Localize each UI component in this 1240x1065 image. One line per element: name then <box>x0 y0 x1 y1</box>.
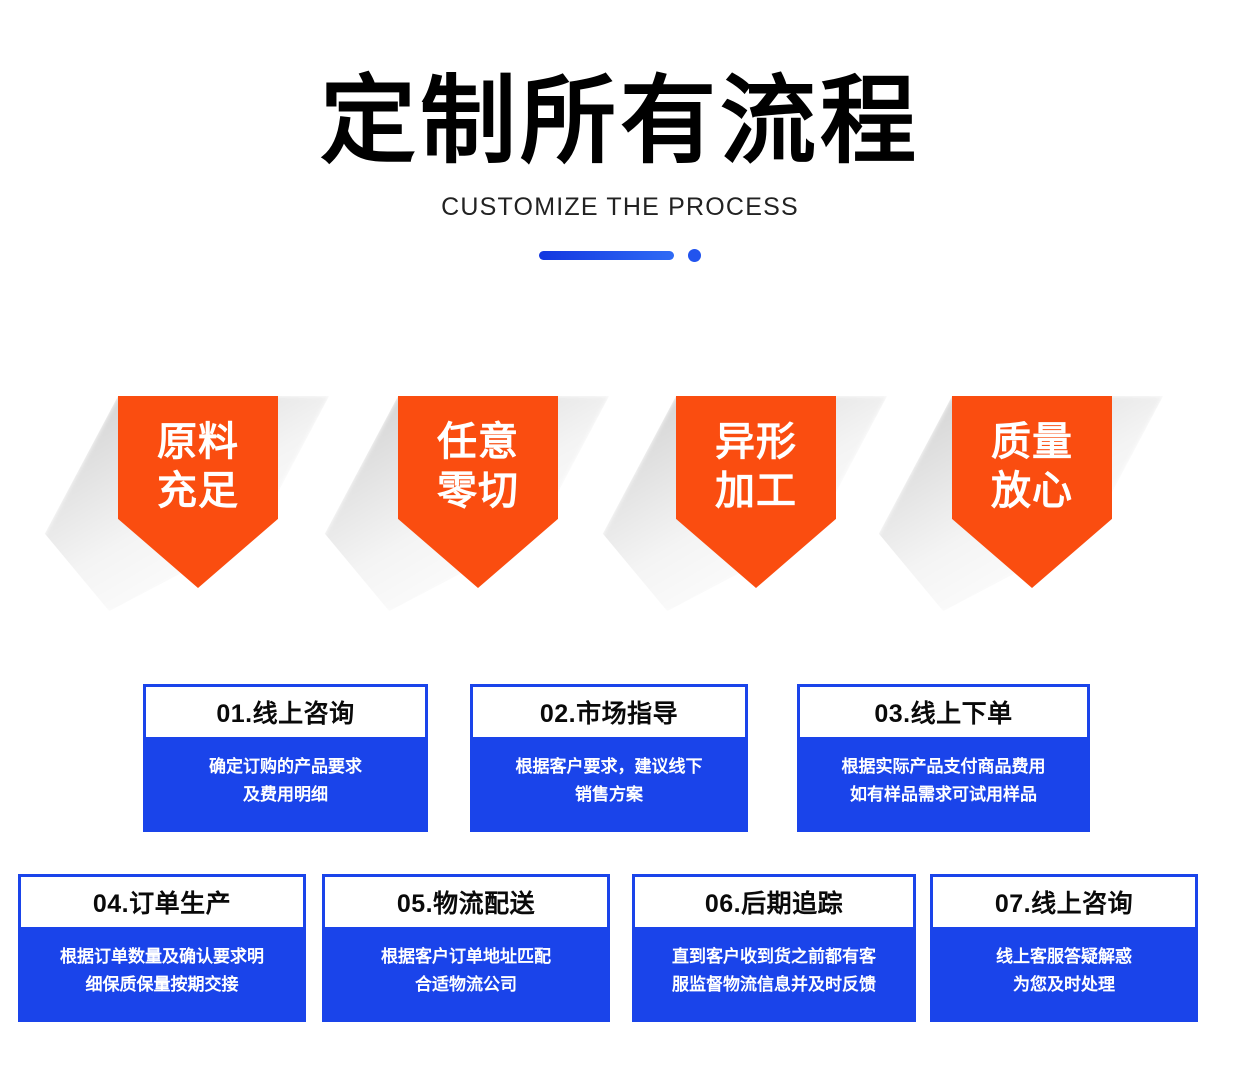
banner-line-2: 零切 <box>437 467 519 516</box>
banner-line-1: 任意 <box>437 418 519 467</box>
step-card-line-1: 根据客户订单地址匹配 <box>381 943 551 971</box>
step-card[interactable]: 06.后期追踪 直到客户收到货之前都有客 服监督物流信息并及时反馈 <box>632 874 916 1022</box>
step-card-header: 03.线上下单 <box>800 687 1087 737</box>
feature-banner-group: 原料 充足 任意 零切 异形 加工 质量 放心 <box>0 396 1240 616</box>
step-card-body: 根据客户要求，建议线下 销售方案 <box>473 737 745 829</box>
step-card-header: 06.后期追踪 <box>635 877 913 927</box>
step-card-header: 02.市场指导 <box>473 687 745 737</box>
banner-line-2: 放心 <box>991 467 1073 516</box>
step-card-header: 05.物流配送 <box>325 877 607 927</box>
step-card-line-1: 确定订购的产品要求 <box>209 753 362 781</box>
step-card-title: 01.线上咨询 <box>216 694 354 730</box>
step-cards-row-2: 04.订单生产 根据订单数量及确认要求明 细保质保量按期交接 05.物流配送 根… <box>0 874 1240 1029</box>
step-card-header: 07.线上咨询 <box>933 877 1195 927</box>
step-card-line-1: 根据客户要求，建议线下 <box>516 753 703 781</box>
step-card[interactable]: 03.线上下单 根据实际产品支付商品费用 如有样品需求可试用样品 <box>797 684 1090 832</box>
step-card-body: 线上客服答疑解惑 为您及时处理 <box>933 927 1195 1019</box>
page-subtitle: CUSTOMIZE THE PROCESS <box>0 193 1240 222</box>
step-card-line-1: 根据订单数量及确认要求明 <box>60 943 264 971</box>
step-card-title: 04.订单生产 <box>93 884 231 920</box>
step-card-line-2: 合适物流公司 <box>415 971 517 999</box>
feature-banner: 原料 充足 <box>118 396 278 588</box>
divider <box>0 250 1240 262</box>
step-card-body: 根据订单数量及确认要求明 细保质保量按期交接 <box>21 927 303 1019</box>
step-card-title: 07.线上咨询 <box>995 884 1133 920</box>
step-card-title: 05.物流配送 <box>397 884 535 920</box>
step-card-header: 04.订单生产 <box>21 877 303 927</box>
step-card-header: 01.线上咨询 <box>146 687 425 737</box>
step-card-line-2: 细保质保量按期交接 <box>86 971 239 999</box>
banner-line-2: 充足 <box>157 467 239 516</box>
step-card-title: 06.后期追踪 <box>705 884 843 920</box>
divider-dot-icon <box>688 249 701 262</box>
step-card-body: 根据客户订单地址匹配 合适物流公司 <box>325 927 607 1019</box>
banner-line-1: 原料 <box>157 418 239 467</box>
step-card-body: 直到客户收到货之前都有客 服监督物流信息并及时反馈 <box>635 927 913 1019</box>
step-card-title: 03.线上下单 <box>874 694 1012 730</box>
step-cards-row-1: 01.线上咨询 确定订购的产品要求 及费用明细 02.市场指导 根据客户要求，建… <box>0 684 1240 834</box>
step-card-line-2: 服监督物流信息并及时反馈 <box>672 971 876 999</box>
page-header: 定制所有流程 CUSTOMIZE THE PROCESS <box>0 0 1240 262</box>
divider-bar-icon <box>539 251 674 260</box>
step-card-line-2: 销售方案 <box>575 781 643 809</box>
feature-banner: 质量 放心 <box>952 396 1112 588</box>
step-card[interactable]: 02.市场指导 根据客户要求，建议线下 销售方案 <box>470 684 748 832</box>
step-card[interactable]: 05.物流配送 根据客户订单地址匹配 合适物流公司 <box>322 874 610 1022</box>
step-card[interactable]: 04.订单生产 根据订单数量及确认要求明 细保质保量按期交接 <box>18 874 306 1022</box>
page-title: 定制所有流程 <box>0 72 1240 173</box>
step-card-line-2: 为您及时处理 <box>1013 971 1115 999</box>
feature-banner: 异形 加工 <box>676 396 836 588</box>
feature-banner: 任意 零切 <box>398 396 558 588</box>
step-card-line-1: 直到客户收到货之前都有客 <box>672 943 876 971</box>
step-card-line-2: 如有样品需求可试用样品 <box>850 781 1037 809</box>
step-card-body: 根据实际产品支付商品费用 如有样品需求可试用样品 <box>800 737 1087 829</box>
step-card[interactable]: 07.线上咨询 线上客服答疑解惑 为您及时处理 <box>930 874 1198 1022</box>
step-card-line-1: 线上客服答疑解惑 <box>996 943 1132 971</box>
step-card-body: 确定订购的产品要求 及费用明细 <box>146 737 425 829</box>
banner-line-1: 异形 <box>715 418 797 467</box>
banner-line-1: 质量 <box>991 418 1073 467</box>
step-card-line-1: 根据实际产品支付商品费用 <box>842 753 1046 781</box>
step-card[interactable]: 01.线上咨询 确定订购的产品要求 及费用明细 <box>143 684 428 832</box>
step-card-title: 02.市场指导 <box>540 694 678 730</box>
banner-line-2: 加工 <box>715 467 797 516</box>
step-card-line-2: 及费用明细 <box>243 781 328 809</box>
